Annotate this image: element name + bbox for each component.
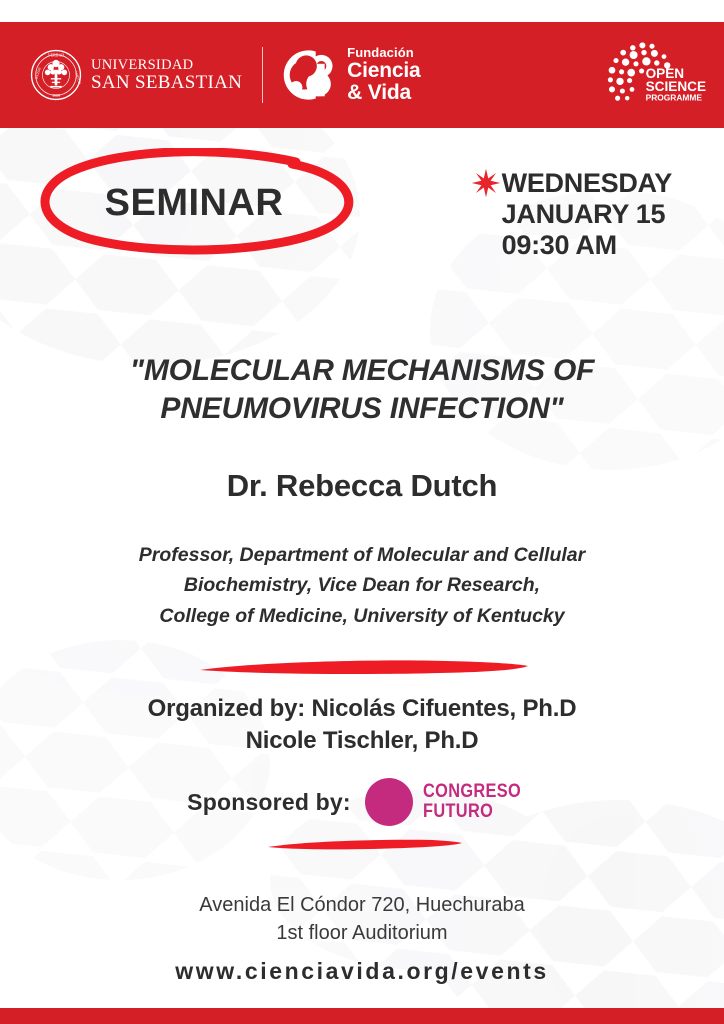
- congreso-futuro-dot-icon: [365, 778, 413, 826]
- seminar-label: SEMINAR: [24, 148, 364, 258]
- foundation-line2: Ciencia: [347, 60, 420, 82]
- event-time: 09:30 AM: [471, 230, 672, 261]
- speaker-name: Dr. Rebecca Dutch: [40, 468, 684, 504]
- event-date: JANUARY 15: [471, 199, 672, 230]
- sponsor-label: Sponsored by:: [187, 789, 351, 816]
- universidad-san-sebastian-wordmark: UNIVERSIDAD SAN SEBASTIAN: [91, 58, 242, 93]
- universidad-san-sebastian-logo: VERDAD 1989 RAZÓN VIRTUD UNIVERSIDAD SAN…: [30, 49, 242, 101]
- affiliation-line2: Biochemistry, Vice Dean for Research,: [40, 570, 684, 600]
- event-datetime: WEDNESDAY JANUARY 15 09:30 AM: [471, 168, 672, 260]
- brush-stroke-divider-lower: [265, 836, 465, 854]
- foundation-line3: & Vida: [347, 82, 420, 104]
- affiliation-line1: Professor, Department of Molecular and C…: [40, 540, 684, 570]
- poster-header: VERDAD 1989 RAZÓN VIRTUD UNIVERSIDAD SAN…: [0, 22, 724, 128]
- universidad-san-sebastian-seal-icon: VERDAD 1989 RAZÓN VIRTUD: [30, 49, 82, 101]
- address-line2: 1st floor Auditorium: [40, 920, 684, 948]
- foundation-line1: Fundación: [347, 46, 420, 60]
- svg-text:VERDAD: VERDAD: [48, 53, 64, 57]
- seminar-badge: SEMINAR: [24, 148, 364, 258]
- organizer-line1: Organized by: Nicolás Cifuentes, Ph.D: [40, 693, 684, 725]
- brush-stroke-divider-upper: [196, 656, 532, 678]
- starburst-icon: [471, 168, 501, 198]
- university-line1: UNIVERSIDAD: [91, 58, 242, 73]
- sponsor-section: Sponsored by: CONGRESO FUTURO: [0, 778, 724, 826]
- talk-title-line1: "MOLECULAR MECHANISMS OF: [40, 352, 684, 390]
- svg-text:SCIENCE: SCIENCE: [646, 79, 706, 94]
- website-url[interactable]: www.cienciavida.org/events: [40, 958, 684, 985]
- congreso-futuro-wordmark: CONGRESO FUTURO: [423, 782, 521, 823]
- talk-title: "MOLECULAR MECHANISMS OF PNEUMOVIRUS INF…: [40, 352, 684, 429]
- organizer-line2: Nicole Tischler, Ph.D: [40, 725, 684, 757]
- affiliation-line3: College of Medicine, University of Kentu…: [40, 601, 684, 631]
- event-day: WEDNESDAY: [502, 168, 672, 199]
- organizers: Organized by: Nicolás Cifuentes, Ph.D Ni…: [40, 693, 684, 757]
- open-science-programme-logo-icon: OPEN SCIENCE PROGRAMME: [596, 35, 708, 115]
- seminar-poster: VERDAD 1989 RAZÓN VIRTUD UNIVERSIDAD SAN…: [0, 0, 724, 1024]
- fundacion-ciencia-vida-mark-icon: [281, 47, 337, 103]
- poster-footer-bar: [0, 1008, 724, 1024]
- fundacion-ciencia-vida-logo: Fundación Ciencia & Vida: [281, 46, 420, 104]
- header-divider: [262, 47, 263, 103]
- address-line1: Avenida El Cóndor 720, Huechuraba: [40, 892, 684, 920]
- speaker-affiliation: Professor, Department of Molecular and C…: [40, 540, 684, 631]
- congreso-futuro-logo: CONGRESO FUTURO: [365, 778, 537, 826]
- venue-address: Avenida El Cóndor 720, Huechuraba 1st fl…: [40, 892, 684, 947]
- sponsor-name-line1: CONGRESO: [423, 782, 521, 802]
- university-line2: SAN SEBASTIAN: [91, 73, 242, 93]
- fundacion-ciencia-vida-wordmark: Fundación Ciencia & Vida: [347, 46, 420, 104]
- svg-text:PROGRAMME: PROGRAMME: [646, 93, 703, 103]
- sponsor-name-line2: FUTURO: [423, 802, 521, 822]
- talk-title-line2: PNEUMOVIRUS INFECTION": [40, 390, 684, 428]
- svg-text:RAZÓN: RAZÓN: [33, 66, 42, 80]
- svg-text:1989: 1989: [52, 94, 60, 98]
